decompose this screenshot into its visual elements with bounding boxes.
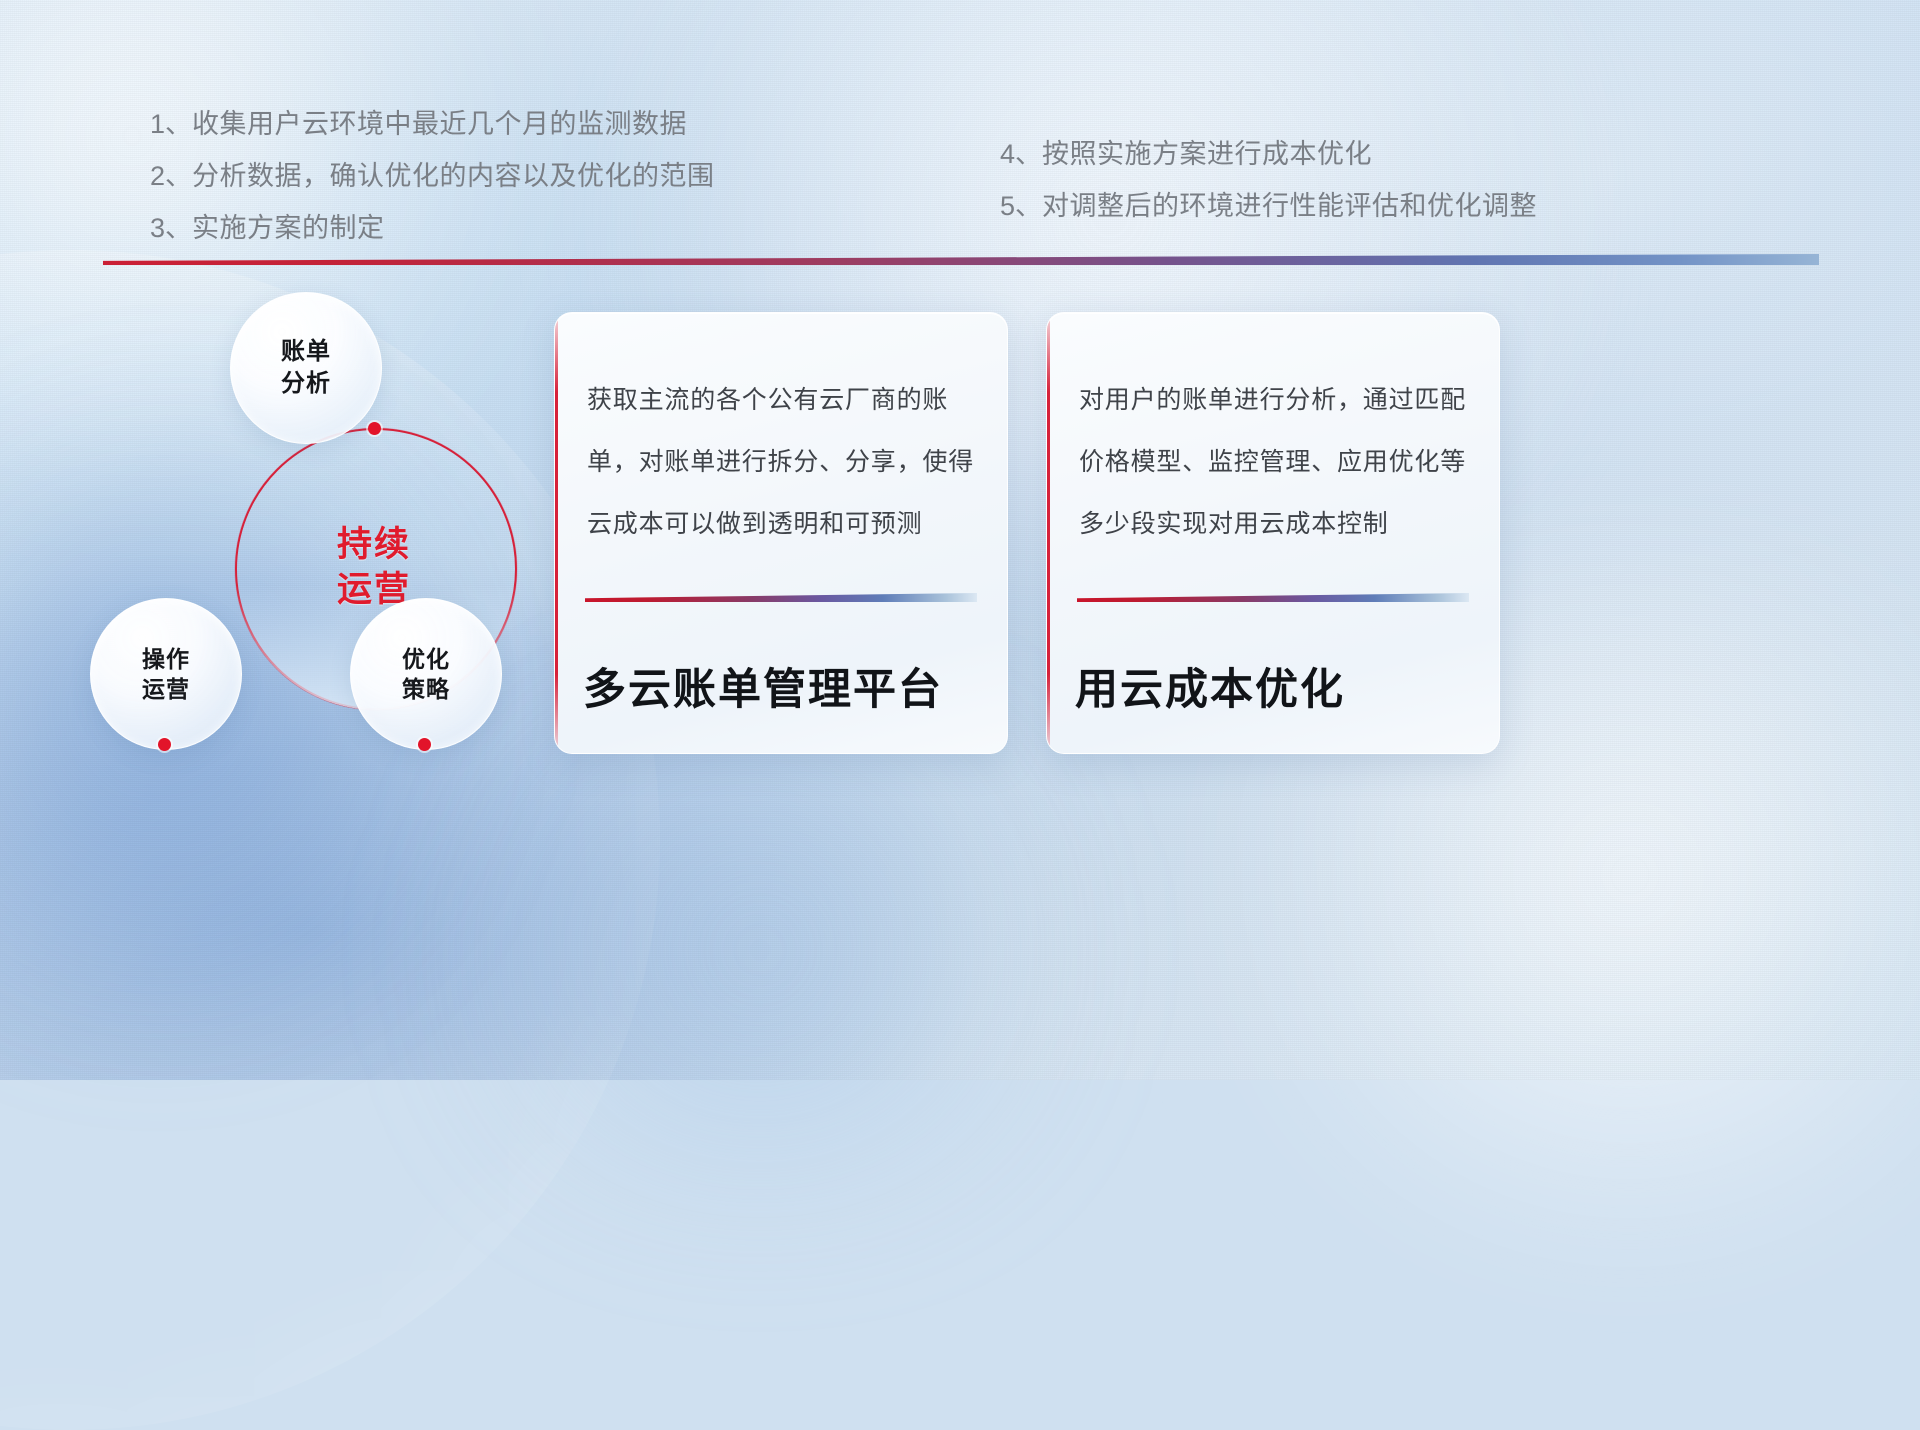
list-item: 3、实施方案的制定 bbox=[150, 202, 715, 254]
node-label-line1: 操作 bbox=[142, 646, 190, 672]
node-label-line2: 运营 bbox=[142, 676, 190, 702]
list-item: 4、按照实施方案进行成本优化 bbox=[1000, 128, 1537, 180]
diagram-node-bill-analysis[interactable]: 账单 分析 bbox=[230, 292, 382, 444]
center-label-line1: 持续 bbox=[337, 525, 411, 564]
list-item-index: 2、 bbox=[150, 161, 192, 191]
node-label-line1: 优化 bbox=[402, 646, 450, 672]
list-item-index: 5、 bbox=[1000, 191, 1042, 221]
diagram-node-optimization-strategy[interactable]: 优化 策略 bbox=[350, 598, 502, 750]
cycle-diagram: 持续 运营 账单 分析 操作 运营 优化 策略 bbox=[80, 282, 550, 772]
steps-list-right: 4、按照实施方案进行成本优化 5、对调整后的环境进行性能评估和优化调整 bbox=[1000, 128, 1537, 232]
node-label-line1: 账单 bbox=[281, 338, 331, 365]
list-item: 5、对调整后的环境进行性能评估和优化调整 bbox=[1000, 180, 1537, 232]
list-item-label: 实施方案的制定 bbox=[192, 213, 385, 243]
feature-card-bill-platform[interactable]: 获取主流的各个公有云厂商的账单，对账单进行拆分、分享，使得云成本可以做到透明和可… bbox=[554, 312, 1008, 754]
card-accent-bar bbox=[555, 313, 558, 753]
card-title: 用云成本优化 bbox=[1075, 655, 1345, 717]
card-accent-bar bbox=[1047, 313, 1050, 753]
list-item-label: 收集用户云环境中最近几个月的监测数据 bbox=[192, 109, 687, 139]
diagram-node-operations[interactable]: 操作 运营 bbox=[90, 598, 242, 750]
diagram-connector-dot-bottom-right bbox=[418, 738, 431, 751]
list-item-label: 按照实施方案进行成本优化 bbox=[1042, 139, 1372, 169]
list-item-index: 3、 bbox=[150, 213, 192, 243]
list-item-index: 1、 bbox=[150, 109, 192, 139]
list-item: 1、收集用户云环境中最近几个月的监测数据 bbox=[150, 98, 715, 150]
list-item: 2、分析数据，确认优化的内容以及优化的范围 bbox=[150, 150, 715, 202]
list-item-label: 分析数据，确认优化的内容以及优化的范围 bbox=[192, 161, 715, 191]
card-divider bbox=[585, 593, 977, 602]
card-body-text: 对用户的账单进行分析，通过匹配价格模型、监控管理、应用优化等多少段实现对用云成本… bbox=[1079, 369, 1473, 555]
diagram-connector-dot-bottom-left bbox=[158, 738, 171, 751]
node-label-line2: 分析 bbox=[281, 370, 331, 397]
list-item-label: 对调整后的环境进行性能评估和优化调整 bbox=[1042, 191, 1537, 221]
node-label-line2: 策略 bbox=[402, 676, 450, 702]
feature-card-cost-optimization[interactable]: 对用户的账单进行分析，通过匹配价格模型、监控管理、应用优化等多少段实现对用云成本… bbox=[1046, 312, 1500, 754]
diagram-connector-dot-top bbox=[368, 422, 381, 435]
card-title: 多云账单管理平台 bbox=[583, 655, 943, 717]
card-body-text: 获取主流的各个公有云厂商的账单，对账单进行拆分、分享，使得云成本可以做到透明和可… bbox=[587, 369, 981, 555]
steps-list-left: 1、收集用户云环境中最近几个月的监测数据 2、分析数据，确认优化的内容以及优化的… bbox=[150, 98, 715, 254]
slide-canvas: 1、收集用户云环境中最近几个月的监测数据 2、分析数据，确认优化的内容以及优化的… bbox=[0, 0, 1920, 1080]
card-divider bbox=[1077, 593, 1469, 602]
list-item-index: 4、 bbox=[1000, 139, 1042, 169]
